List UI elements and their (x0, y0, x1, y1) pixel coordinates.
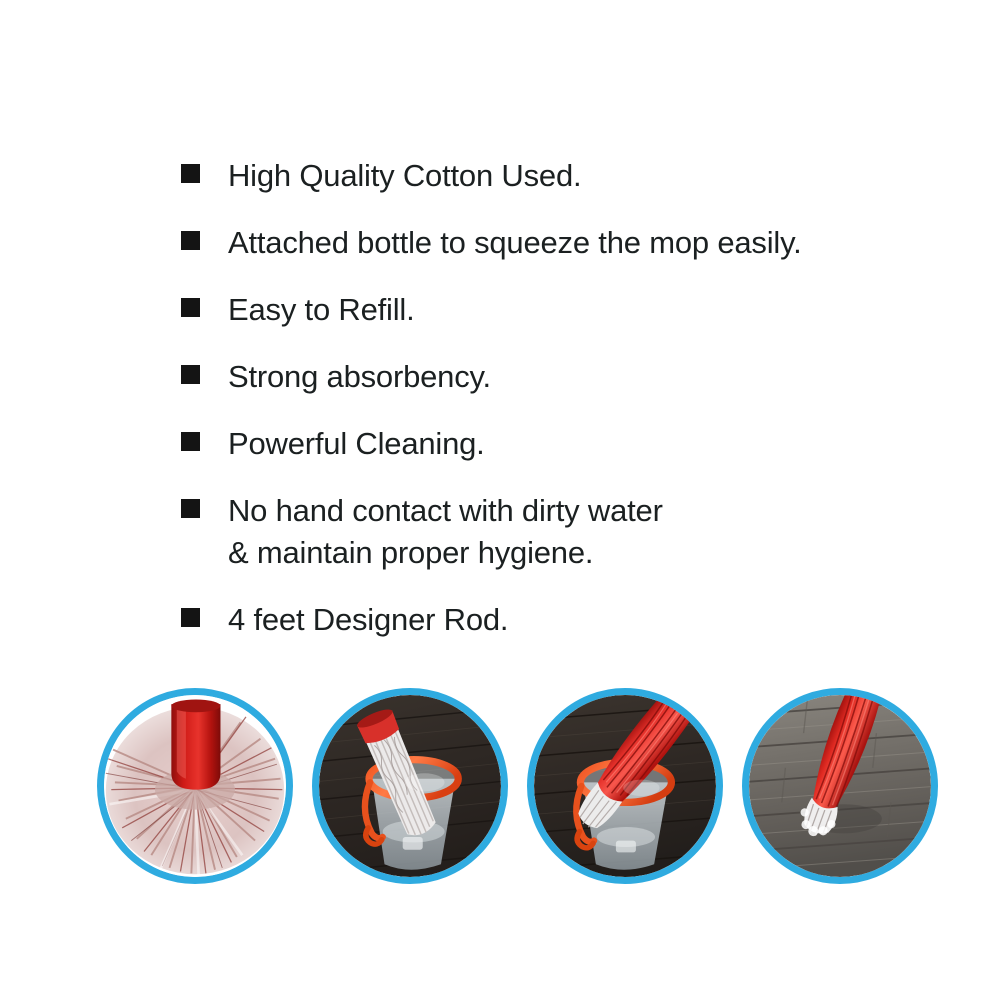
list-item: High Quality Cotton Used. (181, 155, 881, 197)
gallery-photo-mop-squeezing-in-bucket (527, 688, 723, 884)
black-square-bullet-icon (181, 164, 200, 183)
product-photo-gallery (0, 688, 1000, 898)
list-item: No hand contact with dirty water & maint… (181, 490, 881, 574)
gallery-photo-mop-head-closeup (97, 688, 293, 884)
photo-frame (534, 695, 716, 877)
black-square-bullet-icon (181, 432, 200, 451)
photo-frame (319, 695, 501, 877)
list-item: Attached bottle to squeeze the mop easil… (181, 222, 881, 264)
feature-label: High Quality Cotton Used. (228, 155, 581, 197)
black-square-bullet-icon (181, 365, 200, 384)
feature-label: Strong absorbency. (228, 356, 491, 398)
list-item: Easy to Refill. (181, 289, 881, 331)
mop-on-wood-floor-illustration (749, 695, 931, 877)
list-item: Strong absorbency. (181, 356, 881, 398)
black-square-bullet-icon (181, 298, 200, 317)
feature-list: High Quality Cotton Used. Attached bottl… (181, 155, 881, 666)
black-square-bullet-icon (181, 499, 200, 518)
feature-label: No hand contact with dirty water & maint… (228, 490, 663, 574)
mop-in-bucket-wet-illustration (319, 695, 501, 877)
mop-squeezing-illustration (534, 695, 716, 877)
feature-label: 4 feet Designer Rod. (228, 599, 508, 641)
photo-frame (104, 695, 286, 877)
black-square-bullet-icon (181, 608, 200, 627)
feature-label: Attached bottle to squeeze the mop easil… (228, 222, 802, 264)
gallery-photo-mop-in-bucket-wet (312, 688, 508, 884)
feature-label: Powerful Cleaning. (228, 423, 485, 465)
gallery-photo-mop-on-wood-floor (742, 688, 938, 884)
feature-label: Easy to Refill. (228, 289, 415, 331)
photo-frame (749, 695, 931, 877)
list-item: Powerful Cleaning. (181, 423, 881, 465)
list-item: 4 feet Designer Rod. (181, 599, 881, 641)
black-square-bullet-icon (181, 231, 200, 250)
mop-head-closeup-illustration (104, 695, 286, 877)
